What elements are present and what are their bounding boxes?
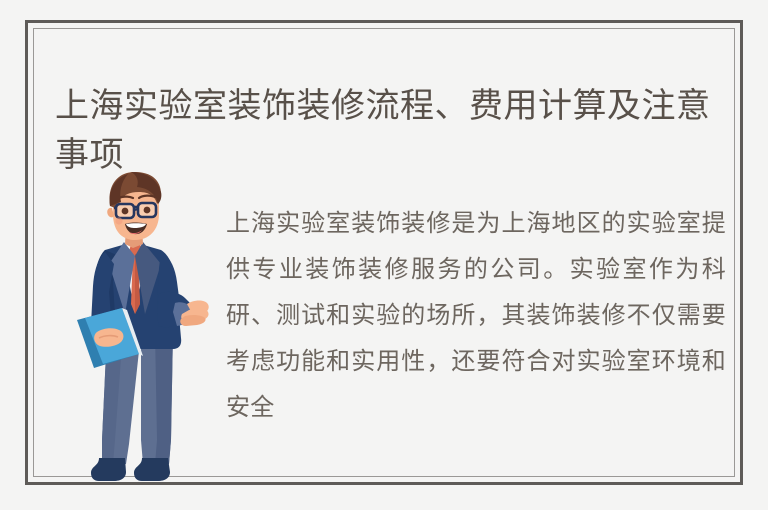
article-body-text: 上海实验室装饰装修是为上海地区的实验室提供专业装饰装修服务的公司。实验室作为科研… <box>226 201 726 431</box>
article-card-inner-frame: 上海实验室装饰装修流程、费用计算及注意事项 <box>33 28 735 477</box>
article-content: 上海实验室装饰装修流程、费用计算及注意事项 <box>34 29 734 476</box>
article-card-outer-frame: 上海实验室装饰装修流程、费用计算及注意事项 <box>25 20 743 485</box>
businessman-presenting-icon <box>69 172 209 484</box>
page-title: 上海实验室装饰装修流程、费用计算及注意事项 <box>55 82 715 180</box>
